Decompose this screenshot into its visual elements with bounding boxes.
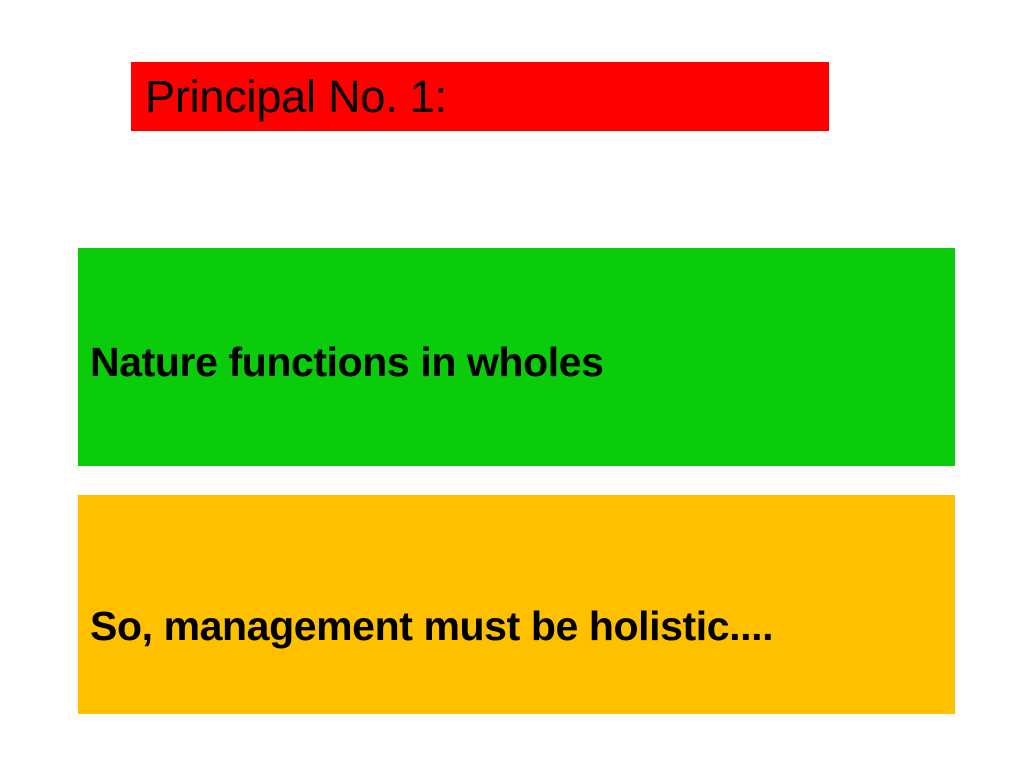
slide-canvas: Principal No. 1: Nature functions in who… [0, 0, 1024, 768]
statement-band-nature: Nature functions in wholes [78, 248, 955, 466]
statement-band-nature-text: Nature functions in wholes [90, 340, 604, 385]
statement-band-management-text: So, management must be holistic.... [90, 604, 773, 649]
statement-band-management: So, management must be holistic.... [78, 495, 955, 714]
slide-title-banner: Principal No. 1: [131, 62, 829, 131]
slide-title-text: Principal No. 1: [145, 74, 447, 119]
